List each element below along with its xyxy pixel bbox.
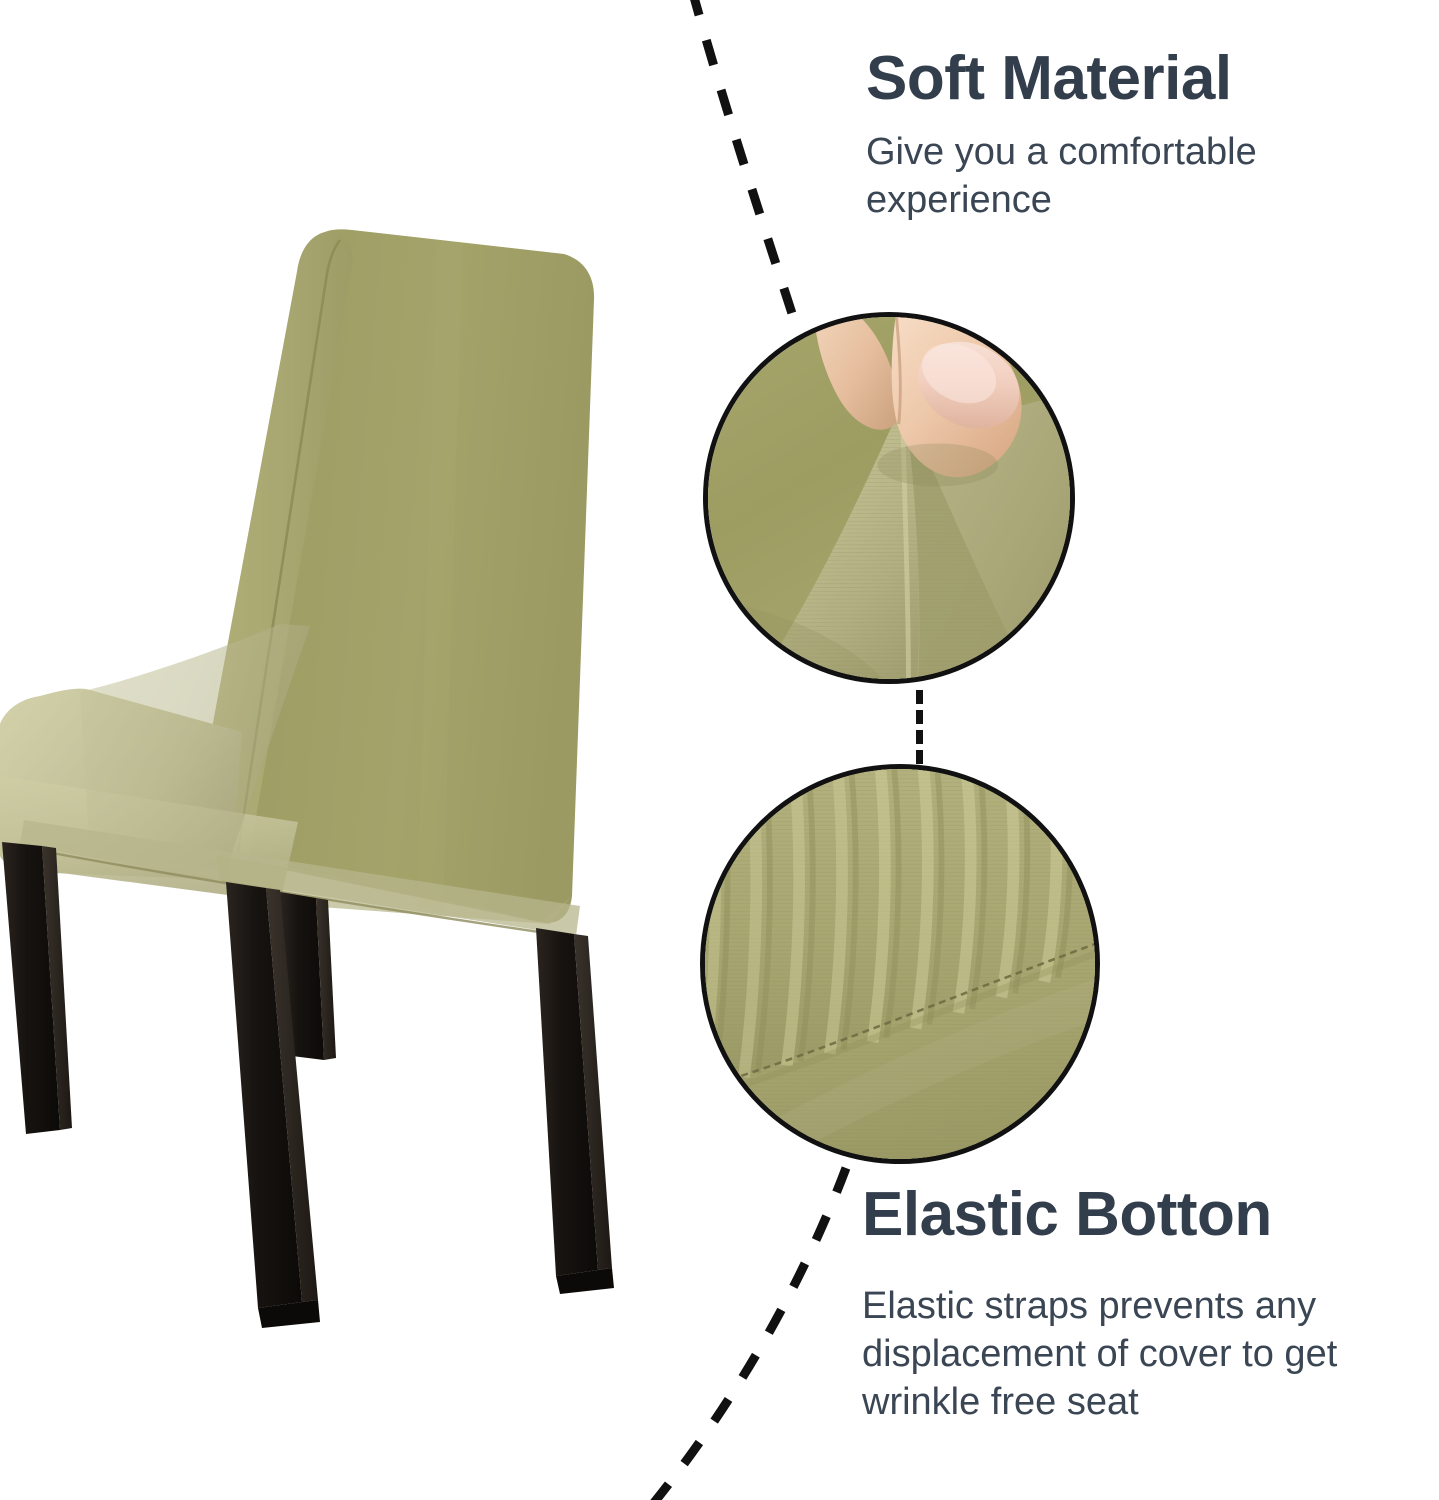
feature-description-elastic-bottom: Elastic straps prevents any displacement… xyxy=(862,1283,1432,1427)
feature-block-elastic-bottom: Elastic Botton Elastic straps prevents a… xyxy=(862,1182,1432,1427)
fabric-pinch-closeup-image xyxy=(703,312,1075,684)
feature-title-soft-material: Soft Material xyxy=(866,46,1426,113)
infographic-canvas: Soft Material Give you a comfortable exp… xyxy=(0,0,1439,1500)
elastic-hem-closeup-image xyxy=(700,764,1100,1164)
feature-description-soft-material: Give you a comfortable experience xyxy=(866,129,1426,225)
inset-connector-dashes xyxy=(916,690,923,764)
chair-with-slipcover-image xyxy=(0,180,660,1330)
feature-title-elastic-bottom: Elastic Botton xyxy=(862,1182,1432,1249)
feature-block-soft-material: Soft Material Give you a comfortable exp… xyxy=(866,46,1426,225)
